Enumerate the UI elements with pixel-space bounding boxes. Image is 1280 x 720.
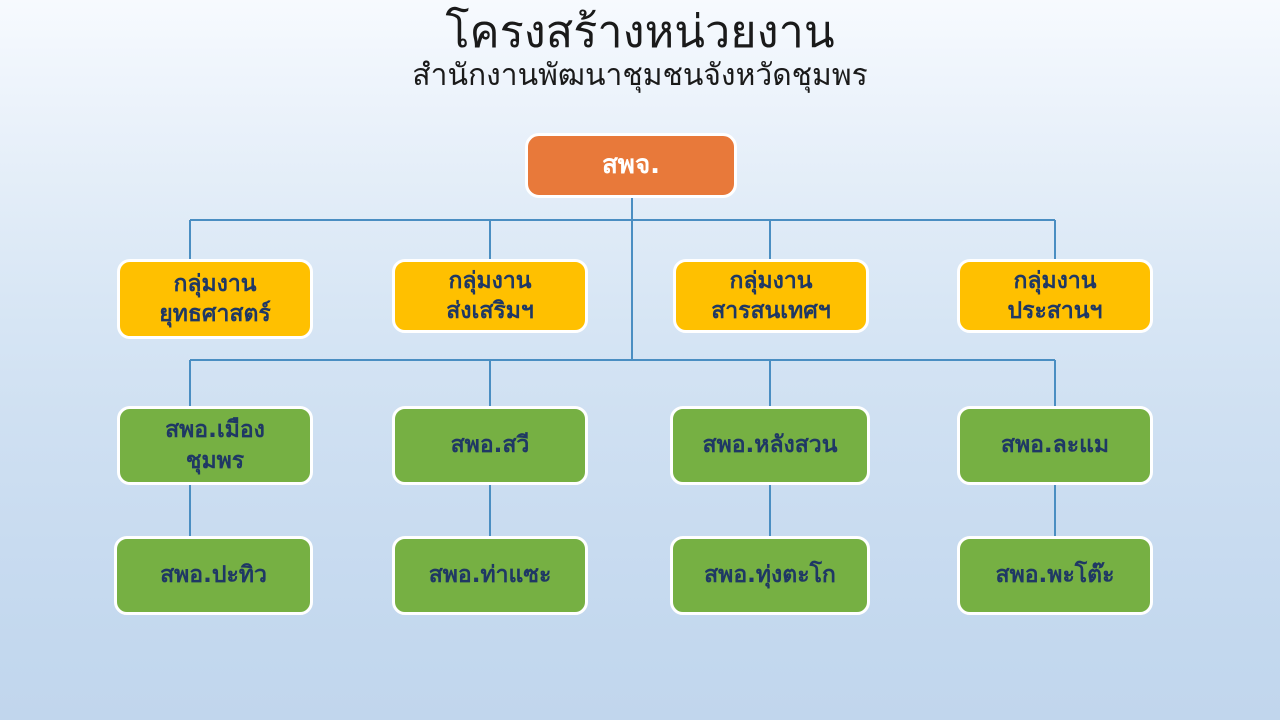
node-line-1: กลุ่มงาน — [448, 268, 531, 294]
node-office-mueang-chumphon[interactable]: สพอ.เมือง ชุมพร — [117, 406, 313, 485]
node-office-thung-tako[interactable]: สพอ.ทุ่งตะโก — [670, 536, 870, 615]
node-group-songserm-label: กลุ่มงาน ส่งเสริมฯ — [401, 266, 579, 327]
node-office-phato-label: สพอ.พะโต๊ะ — [966, 560, 1144, 590]
node-line-1: สพอ.เมือง — [165, 417, 265, 443]
slide-canvas: โครงสร้างหน่วยงาน สำนักงานพัฒนาชุมชนจังห… — [0, 0, 1280, 720]
node-office-pathio-label: สพอ.ปะทิว — [123, 560, 304, 590]
node-group-prasan-label: กลุ่มงาน ประสานฯ — [966, 266, 1144, 327]
node-office-sawi-label: สพอ.สวี — [401, 430, 579, 460]
node-group-yutthasat[interactable]: กลุ่มงาน ยุทธศาสตร์ — [117, 259, 313, 339]
node-line-2: ส่งเสริมฯ — [401, 296, 579, 326]
node-office-langsuan-label: สพอ.หลังสวน — [679, 430, 861, 460]
node-office-lamae-label: สพอ.ละแม — [966, 430, 1144, 460]
node-group-yutthasat-label: กลุ่มงาน ยุทธศาสตร์ — [126, 269, 304, 330]
node-spj[interactable]: สพจ. — [525, 133, 737, 198]
node-office-tha-sae[interactable]: สพอ.ท่าแซะ — [392, 536, 588, 615]
node-line-2: ประสานฯ — [966, 296, 1144, 326]
node-office-mueang-chumphon-label: สพอ.เมือง ชุมพร — [126, 415, 304, 476]
node-office-lamae[interactable]: สพอ.ละแม — [957, 406, 1153, 485]
node-group-sarasonthet-label: กลุ่มงาน สารสนเทศฯ — [682, 266, 860, 327]
node-line-2: ยุทธศาสตร์ — [126, 299, 304, 329]
node-line-2: ชุมพร — [126, 446, 304, 476]
node-group-songserm[interactable]: กลุ่มงาน ส่งเสริมฯ — [392, 259, 588, 333]
node-line-1: กลุ่มงาน — [729, 268, 812, 294]
node-line-1: กลุ่มงาน — [1013, 268, 1096, 294]
node-group-prasan[interactable]: กลุ่มงาน ประสานฯ — [957, 259, 1153, 333]
node-spj-label: สพจ. — [534, 148, 728, 182]
node-office-tha-sae-label: สพอ.ท่าแซะ — [401, 560, 579, 590]
node-office-pathio[interactable]: สพอ.ปะทิว — [114, 536, 313, 615]
node-line-1: กลุ่มงาน — [173, 271, 256, 297]
node-office-sawi[interactable]: สพอ.สวี — [392, 406, 588, 485]
node-office-langsuan[interactable]: สพอ.หลังสวน — [670, 406, 870, 485]
node-group-sarasonthet[interactable]: กลุ่มงาน สารสนเทศฯ — [673, 259, 869, 333]
node-line-2: สารสนเทศฯ — [682, 296, 860, 326]
node-office-phato[interactable]: สพอ.พะโต๊ะ — [957, 536, 1153, 615]
node-office-thung-tako-label: สพอ.ทุ่งตะโก — [679, 560, 861, 590]
